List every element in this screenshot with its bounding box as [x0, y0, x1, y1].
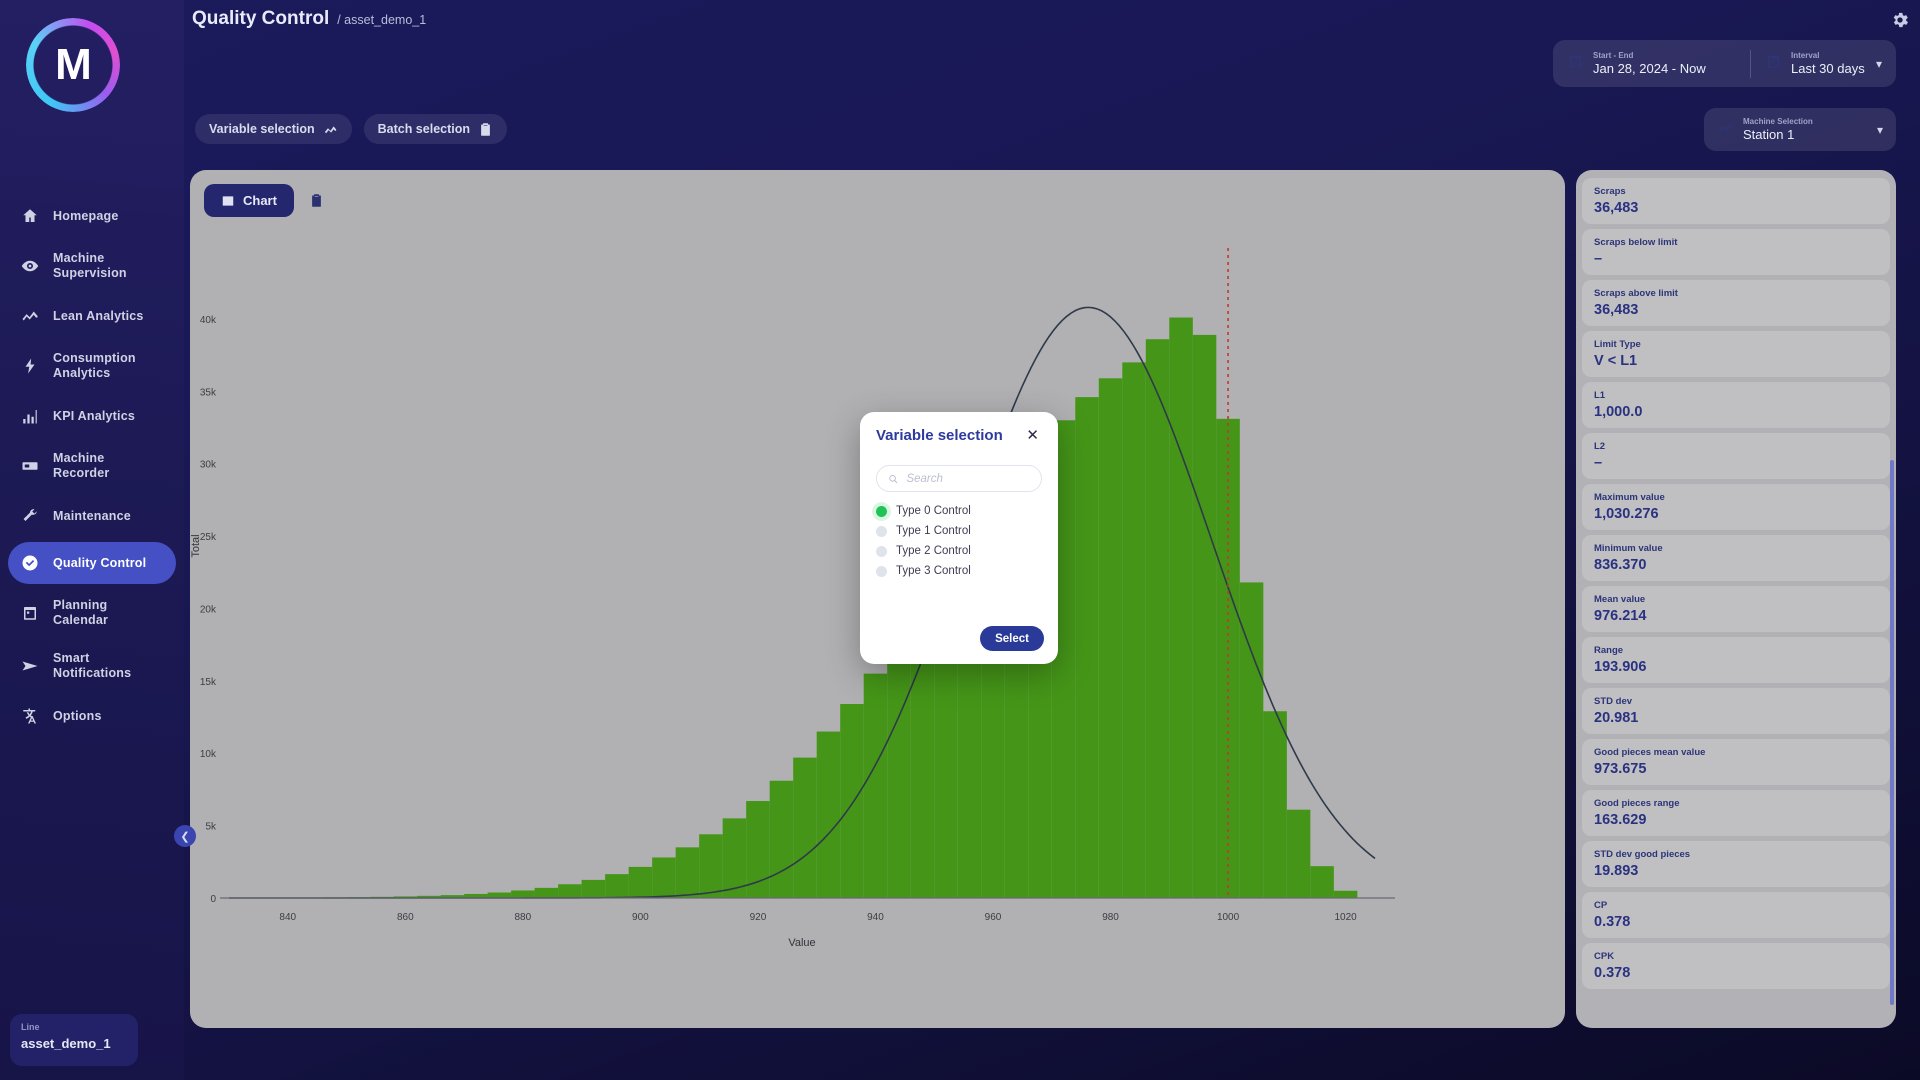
histogram-bar — [1146, 339, 1170, 898]
x-tick-label: 1020 — [1334, 912, 1357, 923]
x-tick-label: 880 — [515, 912, 532, 923]
variable-option-label: Type 3 Control — [896, 565, 971, 577]
stat-value: 1,030.276 — [1594, 505, 1878, 524]
histogram-bar — [1099, 378, 1123, 898]
breadcrumb-asset: / asset_demo_1 — [337, 13, 426, 27]
send-icon — [20, 656, 40, 676]
stat-row: STD dev20.981 — [1582, 688, 1890, 734]
interval-caption: Interval — [1791, 50, 1865, 61]
interval-value: Last 30 days — [1791, 61, 1865, 77]
clipboard-icon — [478, 122, 493, 137]
stat-label: STD dev — [1594, 696, 1878, 708]
sidebar-item-maintenance[interactable]: Maintenance — [8, 495, 176, 537]
variable-option-label: Type 1 Control — [896, 525, 971, 537]
stat-row: Scraps above limit36,483 — [1582, 280, 1890, 326]
sidebar-nav: HomepageMachine SupervisionLean Analytic… — [8, 195, 176, 742]
variable-option[interactable]: Type 1 Control — [876, 521, 1042, 541]
stat-label: Scraps — [1594, 186, 1878, 198]
stat-value: 1,000.0 — [1594, 403, 1878, 422]
stat-label: Range — [1594, 645, 1878, 657]
sidebar-item-label: Lean Analytics — [53, 309, 144, 324]
bar-chart-icon — [20, 406, 40, 426]
stat-row: STD dev good pieces19.893 — [1582, 841, 1890, 887]
calendar-icon — [20, 603, 40, 623]
histogram-bar — [1169, 318, 1193, 898]
batch-selection-button[interactable]: Batch selection — [364, 114, 507, 144]
x-tick-label: 920 — [750, 912, 767, 923]
sidebar-item-machine-supervision[interactable]: Machine Supervision — [8, 242, 176, 290]
histogram-bar — [1263, 711, 1287, 898]
sidebar-item-label: Planning Calendar — [53, 598, 164, 628]
radio-dot-icon[interactable] — [876, 546, 887, 557]
chart-tabs: Chart — [204, 184, 330, 217]
histogram-bar — [676, 847, 700, 898]
y-tick-label: 15k — [200, 677, 217, 688]
chevron-left-icon: ❮ — [180, 830, 189, 843]
radio-dot-icon[interactable] — [876, 506, 887, 517]
stat-value: 19.893 — [1594, 862, 1878, 881]
stat-row: CP0.378 — [1582, 892, 1890, 938]
histogram-bar — [1122, 362, 1146, 898]
histogram-bar — [770, 781, 794, 898]
histogram-bar — [793, 758, 817, 898]
histogram-bar — [1193, 335, 1217, 898]
stat-value: – — [1594, 454, 1878, 473]
x-tick-label: 1000 — [1217, 912, 1240, 923]
variable-option[interactable]: Type 2 Control — [876, 541, 1042, 561]
tab-chart-label: Chart — [243, 193, 277, 208]
sidebar: M HomepageMachine SupervisionLean Analyt… — [0, 0, 184, 1080]
stat-row: Good pieces range163.629 — [1582, 790, 1890, 836]
stat-label: Mean value — [1594, 594, 1878, 606]
wrench-icon — [20, 506, 40, 526]
histogram-bar — [746, 801, 770, 898]
sidebar-item-consumption-analytics[interactable]: Consumption Analytics — [8, 342, 176, 390]
stat-row: L2– — [1582, 433, 1890, 479]
stat-value: 976.214 — [1594, 607, 1878, 626]
settings-button[interactable] — [1890, 10, 1910, 30]
sidebar-item-label: Homepage — [53, 209, 119, 224]
search-box[interactable] — [876, 465, 1042, 492]
histogram-bar — [864, 674, 888, 898]
sidebar-collapse-button[interactable]: ❮ — [174, 825, 196, 847]
breadcrumb: Quality Control / asset_demo_1 — [192, 8, 426, 30]
histogram-bar — [817, 732, 841, 898]
select-button[interactable]: Select — [980, 626, 1044, 651]
stat-label: Minimum value — [1594, 543, 1878, 555]
home-icon — [20, 206, 40, 226]
date-range-segment[interactable]: Start - End Jan 28, 2024 - Now — [1553, 40, 1750, 87]
histogram-bar — [582, 880, 606, 898]
chevron-down-icon[interactable]: ▾ — [1876, 57, 1882, 71]
stat-row: Scraps36,483 — [1582, 178, 1890, 224]
histogram-bar — [511, 890, 535, 898]
app-logo[interactable]: M — [26, 18, 120, 112]
machine-selection-value: Station 1 — [1743, 127, 1813, 143]
y-tick-label: 0 — [210, 894, 216, 905]
statistics-list: Scraps36,483Scraps below limit–Scraps ab… — [1582, 178, 1890, 989]
variable-option[interactable]: Type 3 Control — [876, 561, 1042, 581]
stat-value: V < L1 — [1594, 352, 1878, 371]
histogram-bar — [488, 892, 512, 898]
machine-selection-filter[interactable]: Machine Selection Station 1 ▾ — [1704, 108, 1896, 151]
y-tick-label: 20k — [200, 604, 217, 615]
sidebar-item-label: Maintenance — [53, 509, 131, 524]
app-root: M HomepageMachine SupervisionLean Analyt… — [0, 0, 1920, 1080]
date-range-value: Jan 28, 2024 - Now — [1593, 61, 1706, 77]
line-card[interactable]: Line asset_demo_1 — [10, 1014, 138, 1066]
histogram-bar — [840, 704, 864, 898]
sidebar-item-label: KPI Analytics — [53, 409, 135, 424]
x-axis-label: Value — [788, 937, 815, 949]
y-axis-label: Total — [190, 534, 202, 557]
histogram-bar — [605, 874, 629, 898]
histogram-bar — [887, 642, 911, 898]
check-badge-icon — [20, 553, 40, 573]
stat-label: CP — [1594, 900, 1878, 912]
histogram-bar — [699, 834, 723, 898]
sidebar-item-homepage[interactable]: Homepage — [8, 195, 176, 237]
radio-dot-icon[interactable] — [876, 566, 887, 577]
stats-scrollbar[interactable] — [1890, 460, 1894, 1005]
stat-value: 20.981 — [1594, 709, 1878, 728]
variable-selection-modal: Variable selection ✕ Type 0 ControlType … — [860, 412, 1058, 664]
stat-value: – — [1594, 250, 1878, 269]
sidebar-item-options[interactable]: Options — [8, 695, 176, 737]
date-range-caption: Start - End — [1593, 50, 1706, 61]
y-tick-label: 30k — [200, 460, 217, 471]
sidebar-item-label: Machine Recorder — [53, 451, 164, 481]
stat-label: STD dev good pieces — [1594, 849, 1878, 861]
histogram-bar — [558, 884, 582, 898]
stat-value: 973.675 — [1594, 760, 1878, 779]
statistics-panel: Scraps36,483Scraps below limit–Scraps ab… — [1576, 170, 1896, 1028]
recorder-icon — [20, 456, 40, 476]
stat-value: 836.370 — [1594, 556, 1878, 575]
trend-line-icon — [323, 122, 338, 137]
line-card-caption: Line — [21, 1022, 127, 1032]
eye-icon — [20, 256, 40, 276]
logo-letter: M — [26, 18, 120, 112]
x-tick-label: 860 — [397, 912, 414, 923]
stat-value: 0.378 — [1594, 913, 1878, 932]
sidebar-item-machine-recorder[interactable]: Machine Recorder — [8, 442, 176, 490]
sidebar-item-label: Smart Notifications — [53, 651, 164, 681]
sidebar-item-label: Quality Control — [53, 556, 146, 571]
stat-value: 36,483 — [1594, 199, 1878, 218]
trend-line-icon — [20, 306, 40, 326]
date-range-filter[interactable]: Start - End Jan 28, 2024 - Now Interval … — [1553, 40, 1896, 87]
sidebar-item-lean-analytics[interactable]: Lean Analytics — [8, 295, 176, 337]
histogram-bars — [253, 318, 1358, 898]
stat-value: 193.906 — [1594, 658, 1878, 677]
line-card-value: asset_demo_1 — [21, 1036, 127, 1051]
stat-row: Range193.906 — [1582, 637, 1890, 683]
stat-row: Maximum value1,030.276 — [1582, 484, 1890, 530]
search-icon — [888, 473, 898, 485]
stat-row: Mean value976.214 — [1582, 586, 1890, 632]
histogram-bar — [1310, 866, 1334, 898]
stat-row: Scraps below limit– — [1582, 229, 1890, 275]
histogram-bar — [1334, 891, 1358, 898]
y-tick-label: 5k — [205, 822, 217, 833]
histogram-bar — [629, 867, 653, 898]
stat-value: 163.629 — [1594, 811, 1878, 830]
search-input[interactable] — [906, 473, 1030, 485]
histogram-bar — [1075, 397, 1099, 898]
sidebar-item-planning-calendar[interactable]: Planning Calendar — [8, 589, 176, 637]
close-icon[interactable]: ✕ — [1023, 426, 1042, 445]
page-title: Quality Control — [192, 8, 329, 30]
stat-row: Minimum value836.370 — [1582, 535, 1890, 581]
x-tick-label: 840 — [279, 912, 296, 923]
stat-row: Limit TypeV < L1 — [1582, 331, 1890, 377]
x-tick-label: 900 — [632, 912, 649, 923]
x-tick-label: 940 — [867, 912, 884, 923]
bolt-icon — [20, 356, 40, 376]
variable-option-label: Type 0 Control — [896, 505, 971, 517]
histogram-bar — [1216, 419, 1240, 898]
stat-row: CPK0.378 — [1582, 943, 1890, 989]
x-tick-label: 980 — [1102, 912, 1119, 923]
tab-chart[interactable]: Chart — [204, 184, 294, 217]
clipboard-icon — [309, 193, 324, 208]
stat-label: Limit Type — [1594, 339, 1878, 351]
variable-selection-button[interactable]: Variable selection — [195, 114, 352, 144]
machine-selection-caption: Machine Selection — [1743, 116, 1813, 127]
modal-title: Variable selection — [876, 427, 1003, 444]
sidebar-item-label: Options — [53, 709, 102, 724]
variable-option[interactable]: Type 0 Control — [876, 501, 1042, 521]
histogram-bar — [535, 888, 559, 898]
stat-row: L11,000.0 — [1582, 382, 1890, 428]
modal-header: Variable selection ✕ — [876, 426, 1042, 445]
stat-row: Good pieces mean value973.675 — [1582, 739, 1890, 785]
sidebar-item-label: Machine Supervision — [53, 251, 164, 281]
stat-label: L2 — [1594, 441, 1878, 453]
variable-option-label: Type 2 Control — [896, 545, 971, 557]
stat-label: L1 — [1594, 390, 1878, 402]
stat-label: Scraps above limit — [1594, 288, 1878, 300]
sidebar-item-label: Consumption Analytics — [53, 351, 164, 381]
stat-value: 0.378 — [1594, 964, 1878, 983]
stat-label: Good pieces mean value — [1594, 747, 1878, 759]
gear-icon — [1890, 10, 1910, 30]
y-tick-label: 40k — [200, 315, 217, 326]
interval-segment[interactable]: Interval Last 30 days ▾ — [1751, 40, 1896, 87]
y-tick-label: 35k — [200, 387, 217, 398]
stat-label: Good pieces range — [1594, 798, 1878, 810]
batch-selection-label: Batch selection — [378, 122, 470, 136]
stat-value: 36,483 — [1594, 301, 1878, 320]
bar-chart-icon — [221, 194, 235, 208]
trend-line-icon — [1717, 119, 1734, 141]
sidebar-item-kpi-analytics[interactable]: KPI Analytics — [8, 395, 176, 437]
histogram-bar — [1287, 810, 1311, 898]
tab-report[interactable] — [304, 188, 330, 214]
radio-dot-icon[interactable] — [876, 526, 887, 537]
stat-label: Scraps below limit — [1594, 237, 1878, 249]
variable-selection-label: Variable selection — [209, 122, 315, 136]
histogram-bar — [652, 857, 676, 898]
sidebar-item-smart-notifications[interactable]: Smart Notifications — [8, 642, 176, 690]
selection-toolbar: Variable selection Batch selection — [195, 114, 507, 144]
calendar-icon — [1765, 53, 1782, 75]
sidebar-item-quality-control[interactable]: Quality Control — [8, 542, 176, 584]
calendar-check-icon — [1567, 53, 1584, 75]
translate-icon — [20, 706, 40, 726]
stat-label: CPK — [1594, 951, 1878, 963]
variable-option-list: Type 0 ControlType 1 ControlType 2 Contr… — [876, 501, 1042, 581]
y-tick-label: 10k — [200, 749, 217, 760]
y-tick-label: 25k — [200, 532, 217, 543]
x-tick-label: 960 — [985, 912, 1002, 923]
chevron-down-icon[interactable]: ▾ — [1877, 123, 1883, 137]
stat-label: Maximum value — [1594, 492, 1878, 504]
